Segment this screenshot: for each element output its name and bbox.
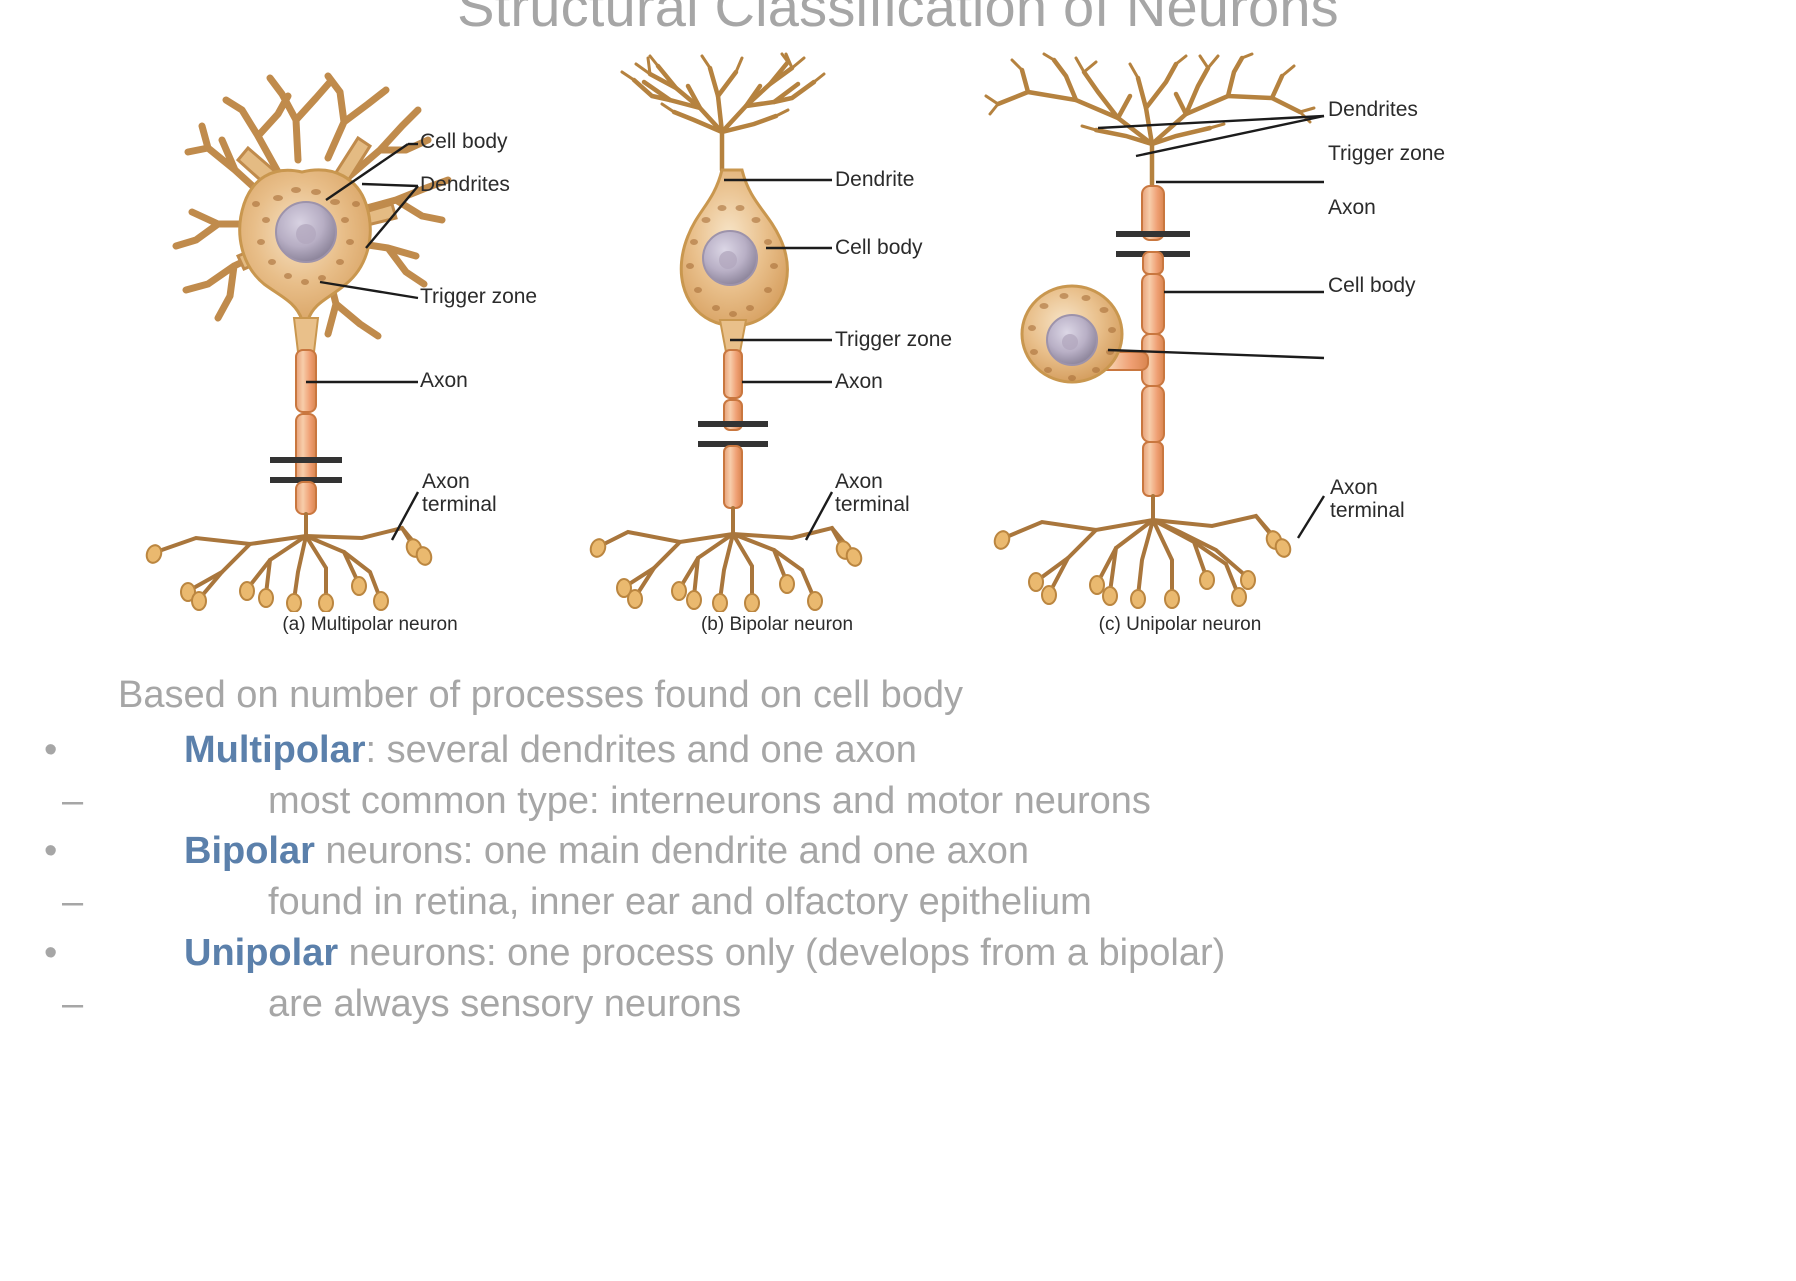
- bullet-text: Multipolar: several dendrites and one ax…: [92, 731, 1796, 770]
- label-trigger-zone: Trigger zone: [420, 285, 537, 308]
- label-axon-terminal: Axon terminal: [835, 470, 910, 516]
- label-dendrite: Dendrite: [835, 168, 914, 191]
- panel-bipolar: Dendrite Cell body Trigger zone Axon Axo…: [570, 52, 1000, 672]
- bullet-marker: –: [0, 883, 92, 922]
- bullet-text: are always sensory neurons: [92, 985, 1796, 1024]
- bullet-rest: neurons: one process only (develops from…: [338, 932, 1225, 974]
- bullet-keyword: Multipolar: [184, 729, 366, 771]
- label-axon: Axon: [1328, 196, 1376, 219]
- label-cell-body: Cell body: [1328, 274, 1416, 297]
- leader-lines: [1098, 116, 1324, 538]
- axon-segment: [1143, 442, 1163, 496]
- bullet-row: – most common type: interneurons and mot…: [0, 782, 1796, 833]
- bullet-rest: : several dendrites and one axon: [366, 729, 917, 771]
- axon-segment: [724, 446, 742, 508]
- bullet-keyword: Unipolar: [184, 932, 338, 974]
- bullet-marker: •: [0, 832, 92, 871]
- label-trigger-zone: Trigger zone: [835, 328, 952, 351]
- bullet-rest: most common type: interneurons and motor…: [268, 780, 1151, 822]
- axon-terminal-branches: [156, 514, 422, 600]
- bullet-marker: –: [0, 985, 92, 1024]
- bullet-text: found in retina, inner ear and olfactory…: [92, 883, 1796, 922]
- nucleolus: [1062, 334, 1078, 350]
- panel-caption: (a) Multipolar neuron: [135, 614, 605, 636]
- axon-segment: [296, 414, 316, 484]
- label-cell-body: Cell body: [835, 236, 923, 259]
- bullet-rest: neurons: one main dendrite and one axon: [315, 830, 1029, 872]
- nucleolus: [719, 251, 737, 269]
- nucleolus: [296, 224, 316, 244]
- axon-segment: [1142, 274, 1164, 334]
- slide-canvas: Structural Classification of Neurons: [0, 0, 1796, 1281]
- panel-caption: (c) Unipolar neuron: [920, 614, 1440, 636]
- bullet-marker: •: [0, 731, 92, 770]
- bullet-row: • Bipolar neurons: one main dendrite and…: [0, 832, 1796, 883]
- bullet-marker: •: [0, 934, 92, 973]
- axon-terminal-branches: [1004, 496, 1280, 596]
- bullet-row: • Unipolar neurons: one process only (de…: [0, 934, 1796, 985]
- panel-multipolar: Cell body Dendrites Trigger zone Axon Ax…: [130, 52, 600, 672]
- axon-break-symbol: [698, 424, 768, 444]
- axon-segment: [1143, 252, 1163, 274]
- bullet-row: – are always sensory neurons: [0, 985, 1796, 1036]
- bullet-rest: are always sensory neurons: [268, 983, 741, 1025]
- label-dendrites: Dendrites: [1328, 98, 1418, 121]
- axon-segment: [1142, 386, 1164, 442]
- panel-unipolar: Dendrites Trigger zone Axon Cell body Ax…: [980, 52, 1500, 672]
- multipolar-neuron-illustration: [130, 52, 600, 612]
- bullet-rest: found in retina, inner ear and olfactory…: [268, 881, 1092, 923]
- axon-hillock: [720, 320, 746, 352]
- slide-body: Based on number of processes found on ce…: [0, 676, 1796, 1035]
- axon-segment: [296, 482, 316, 514]
- label-axon-terminal: Axon terminal: [1330, 476, 1405, 522]
- label-axon: Axon: [835, 370, 883, 393]
- axon-segment: [724, 350, 742, 398]
- bullet-text: Unipolar neurons: one process only (deve…: [92, 934, 1796, 973]
- lead-line: Based on number of processes found on ce…: [118, 676, 1796, 731]
- bullet-marker: –: [0, 782, 92, 821]
- label-dendrites: Dendrites: [420, 173, 510, 196]
- bullet-text: most common type: interneurons and motor…: [92, 782, 1796, 821]
- bullet-row: – found in retina, inner ear and olfacto…: [0, 883, 1796, 934]
- dendrite-branches: [634, 62, 814, 170]
- neuron-figure: Cell body Dendrites Trigger zone Axon Ax…: [0, 52, 1796, 672]
- label-axon-terminal: Axon terminal: [422, 470, 497, 516]
- label-trigger-zone: Trigger zone: [1328, 142, 1445, 165]
- label-cell-body: Cell body: [420, 130, 508, 153]
- label-axon: Axon: [420, 369, 468, 392]
- terminal-boutons: [588, 537, 863, 612]
- bullet-keyword: Bipolar: [184, 830, 315, 872]
- unipolar-neuron-illustration: [980, 52, 1500, 612]
- axon-terminal-branches: [600, 508, 852, 600]
- axon-hillock: [294, 318, 318, 352]
- dendrite-branches: [998, 58, 1300, 188]
- bullet-row: • Multipolar: several dendrites and one …: [0, 731, 1796, 782]
- page-title: Structural Classification of Neurons: [0, 0, 1796, 39]
- bullet-text: Bipolar neurons: one main dendrite and o…: [92, 832, 1796, 871]
